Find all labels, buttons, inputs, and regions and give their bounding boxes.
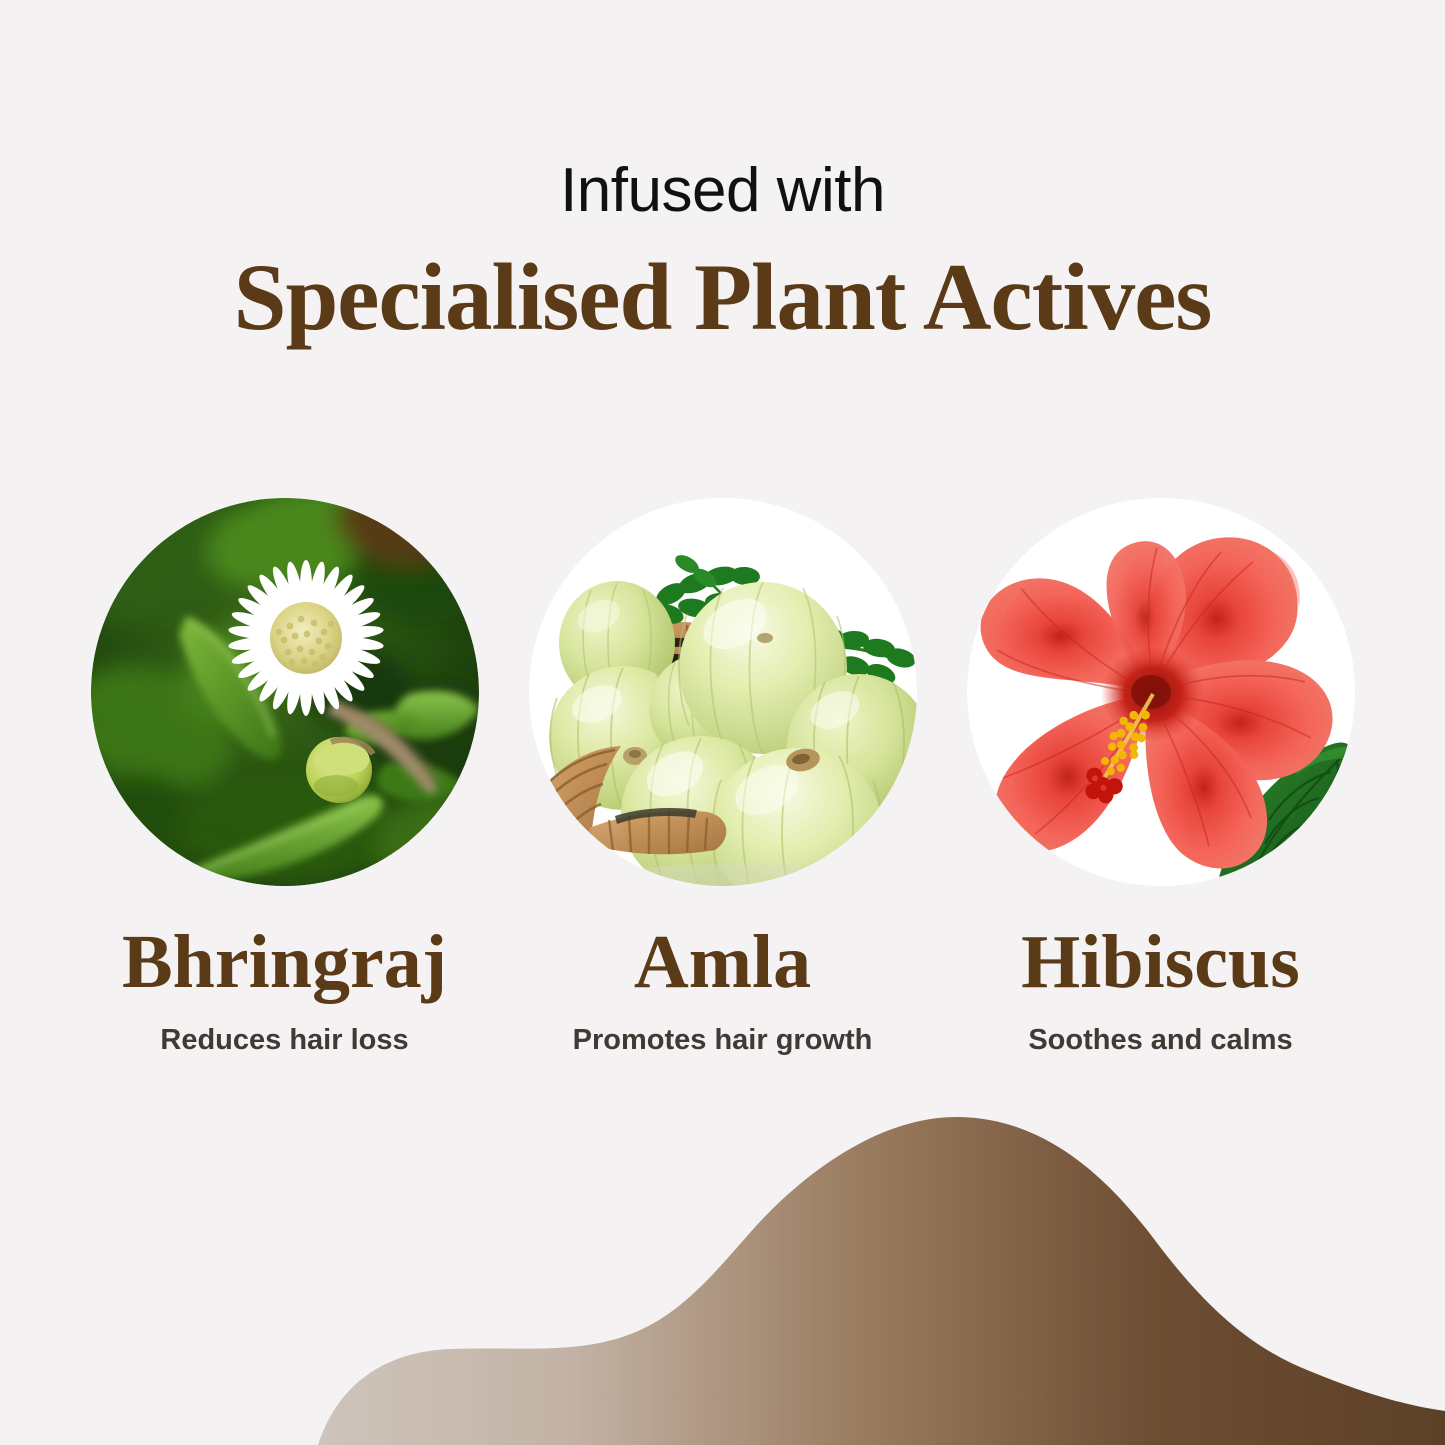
hibiscus-flower-photo [967,498,1355,886]
ingredient-description: Soothes and calms [1028,1026,1292,1055]
ingredient-name: Hibiscus [1021,924,1300,1000]
poster-canvas: Infused with Specialised Plant Actives [0,0,1445,1445]
ingredient-card-amla: Amla Promotes hair growth [528,498,918,1055]
page-title: Specialised Plant Actives [0,248,1445,348]
ingredient-name: Bhringraj [122,924,447,1000]
ingredient-name: Amla [634,924,811,1000]
ingredient-description: Reduces hair loss [160,1026,408,1055]
bottom-decorative-wave [0,1115,1445,1445]
amla-fruit-photo [529,498,917,886]
heading-block: Infused with Specialised Plant Actives [0,160,1445,348]
bhringraj-flower-photo [91,498,479,886]
ingredient-list: Bhringraj Reduces hair loss [0,498,1445,1055]
eyebrow-text: Infused with [0,160,1445,222]
ingredient-card-hibiscus: Hibiscus Soothes and calms [966,498,1356,1055]
ingredient-description: Promotes hair growth [573,1026,873,1055]
ingredient-card-bhringraj: Bhringraj Reduces hair loss [90,498,480,1055]
